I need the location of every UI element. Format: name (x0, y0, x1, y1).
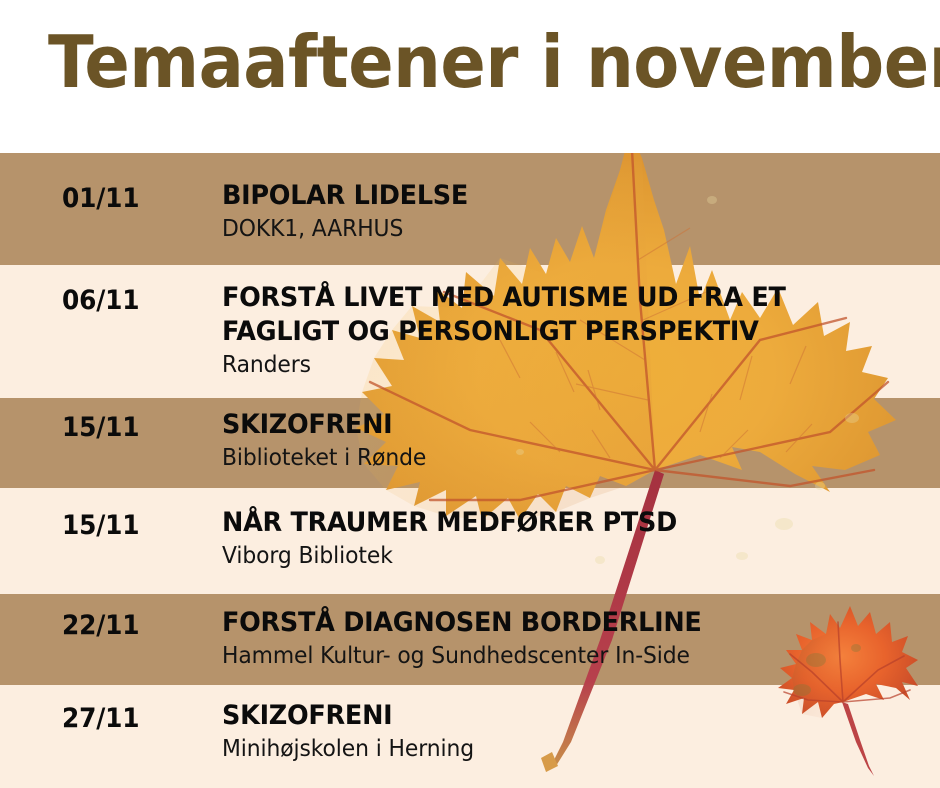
event-date: 22/11 (62, 610, 139, 641)
event-venue: Randers (222, 351, 895, 380)
event-title: SKIZOFRENI (222, 699, 891, 733)
event-venue: Hammel Kultur- og Sundhedscenter In-Side (222, 642, 895, 671)
event-date: 15/11 (62, 510, 139, 541)
schedule-row-4[interactable]: 15/11 NÅR TRAUMER MEDFØRER PTSD Viborg B… (0, 488, 940, 594)
event-title: FORSTÅ LIVET MED AUTISME UD FRA ET FAGLI… (222, 281, 798, 349)
schedule-row-3[interactable]: 15/11 SKIZOFRENI Biblioteket i Rønde (0, 398, 940, 488)
event-date: 06/11 (62, 285, 139, 316)
event-body: BIPOLAR LIDELSE DOKK1, AARHUS (222, 179, 930, 244)
title-area: Temaaftener i november (0, 0, 940, 153)
schedule-row-2[interactable]: 06/11 FORSTÅ LIVET MED AUTISME UD FRA ET… (0, 265, 940, 398)
event-title: FORSTÅ DIAGNOSEN BORDERLINE (222, 606, 891, 640)
schedule-row-5[interactable]: 22/11 FORSTÅ DIAGNOSEN BORDERLINE Hammel… (0, 594, 940, 685)
event-body: NÅR TRAUMER MEDFØRER PTSD Viborg Bibliot… (222, 506, 930, 571)
event-venue: Biblioteket i Rønde (222, 444, 895, 473)
event-body: SKIZOFRENI Minihøjskolen i Herning (222, 699, 930, 764)
event-body: FORSTÅ LIVET MED AUTISME UD FRA ET FAGLI… (222, 281, 930, 379)
event-date: 27/11 (62, 703, 139, 734)
event-body: FORSTÅ DIAGNOSEN BORDERLINE Hammel Kultu… (222, 606, 930, 671)
event-title: BIPOLAR LIDELSE (222, 179, 891, 213)
event-date: 01/11 (62, 183, 139, 214)
schedule-row-6[interactable]: 27/11 SKIZOFRENI Minihøjskolen i Herning (0, 685, 940, 788)
page-title: Temaaftener i november (48, 26, 940, 98)
event-venue: Viborg Bibliotek (222, 542, 895, 571)
schedule-row-1[interactable]: 01/11 BIPOLAR LIDELSE DOKK1, AARHUS (0, 153, 940, 265)
event-date: 15/11 (62, 412, 139, 443)
event-title: SKIZOFRENI (222, 408, 891, 442)
event-venue: Minihøjskolen i Herning (222, 735, 895, 764)
event-venue: DOKK1, AARHUS (222, 215, 895, 244)
event-body: SKIZOFRENI Biblioteket i Rønde (222, 408, 930, 473)
event-title: NÅR TRAUMER MEDFØRER PTSD (222, 506, 891, 540)
poster-root: Temaaftener i november 01/11 BIPOLAR LID… (0, 0, 940, 788)
